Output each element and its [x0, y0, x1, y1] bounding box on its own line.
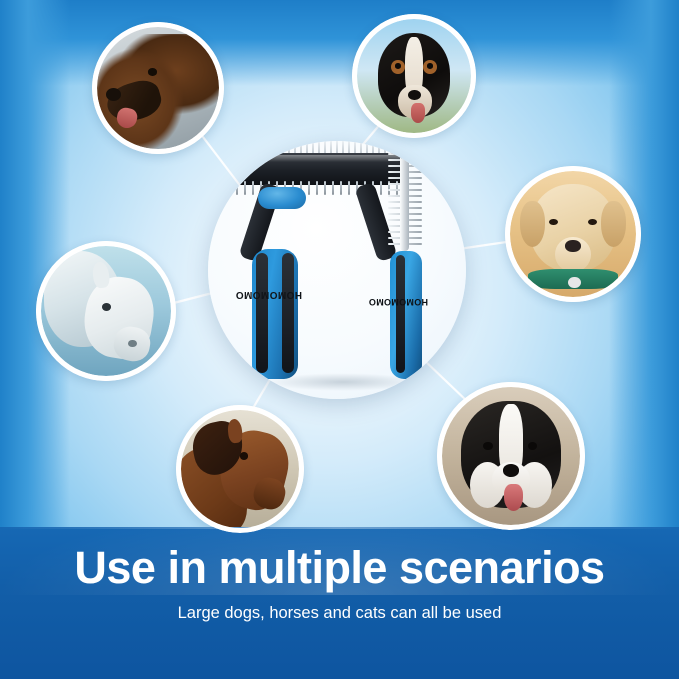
comb-handle-grip [396, 255, 405, 373]
steel-comb: HOMOMOMO [384, 147, 430, 397]
rake-handle-grip-left [256, 253, 268, 373]
afghan-hound-photo [97, 27, 219, 149]
brown-horse-photo [181, 410, 299, 528]
rake-brand-label: HOMOMOMO [248, 289, 302, 300]
rake-head-highlight [232, 155, 400, 162]
comb-brand-label: HOMOMOMO [384, 297, 428, 307]
headline: Use in multiple scenarios [0, 545, 679, 590]
bubble-white-horse [36, 241, 176, 381]
comb-spine [400, 147, 409, 251]
bubble-border-collie [437, 382, 585, 530]
poster: HOMOMOMO HOMOMOMO [0, 0, 679, 679]
border-collie-photo [442, 387, 580, 525]
bubble-brown-horse [176, 405, 304, 533]
bubble-afghan-hound [92, 22, 224, 154]
product-art: HOMOMOMO HOMOMOMO [208, 141, 466, 399]
comb-handle [390, 251, 422, 379]
white-horse-photo [41, 246, 171, 376]
subheadline: Large dogs, horses and cats can all be u… [0, 605, 679, 622]
bernese-dog-photo [357, 19, 471, 133]
labrador-dog-photo [510, 171, 636, 297]
bubble-bernese-dog [352, 14, 476, 138]
product-bubble: HOMOMOMO HOMOMOMO [208, 141, 466, 399]
bottom-banner: Use in multiple scenarios Large dogs, ho… [0, 527, 679, 679]
bubble-labrador-dog [505, 166, 641, 302]
rake-blue-hub [258, 187, 306, 209]
rake-handle-grip-right [282, 253, 294, 373]
